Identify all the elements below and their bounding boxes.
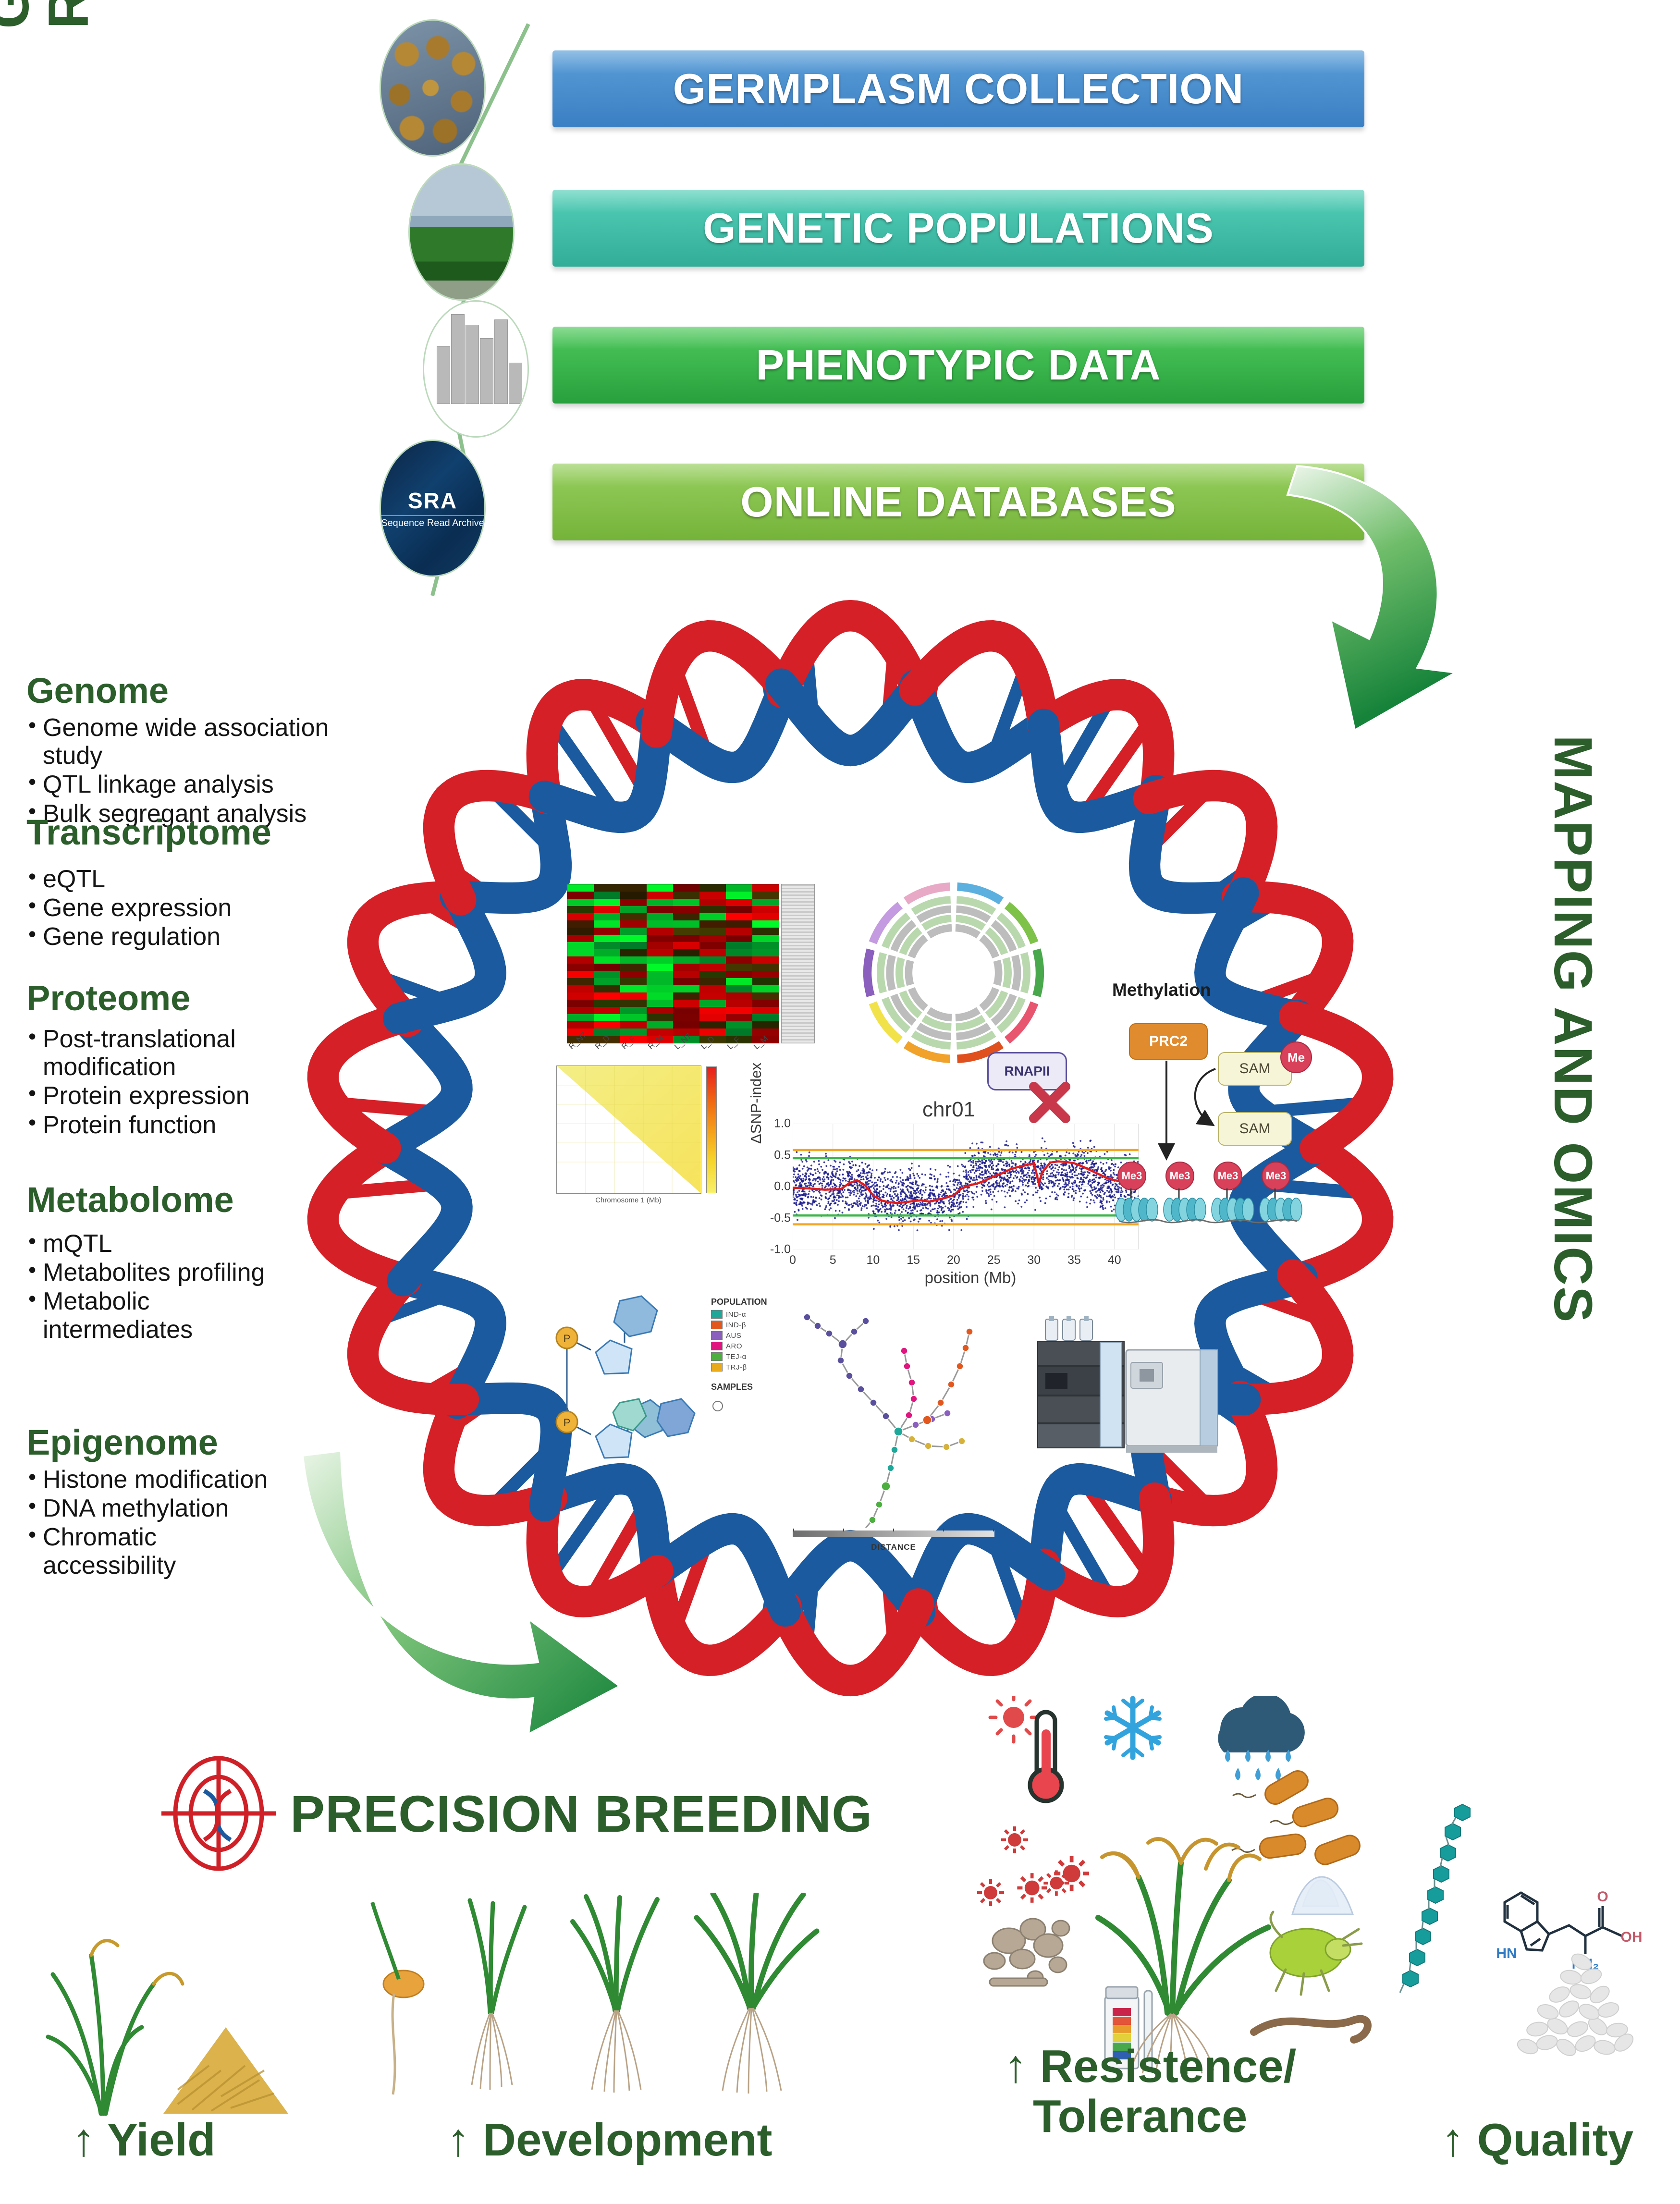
- list-item: Chromatic accessibility: [26, 1523, 225, 1579]
- outcome-label-resistance-tolerance: ↑ Resistence/ Tolerance: [1004, 2042, 1296, 2141]
- x-tick-label: 30: [1027, 1253, 1041, 1267]
- distance-scalebar: DISTANCE: [793, 1528, 994, 1552]
- network-node: [923, 1416, 932, 1424]
- label-OH: OH: [1621, 1929, 1643, 1945]
- network-node: [887, 1465, 894, 1471]
- legend-swatch: [711, 1321, 723, 1329]
- banner-phenotypic-data[interactable]: PHENOTYPIC DATA: [552, 327, 1364, 404]
- ld-triangle: [556, 1065, 701, 1194]
- expression-heatmap-panel: R_N7R_DR_FR_ML_N7L_DL_FL_M: [567, 884, 817, 1062]
- banner-label-databases: ONLINE DATABASES: [552, 464, 1364, 540]
- legend-label: TRJ-β: [726, 1363, 747, 1371]
- network-node: [944, 1410, 951, 1417]
- outcome-line-2: Tolerance: [1004, 2092, 1296, 2142]
- genetics-resources-title: GENETICS RESOURCES: [0, 0, 106, 29]
- banner-genetic-populations[interactable]: GENETIC POPULATIONS: [552, 190, 1364, 267]
- haplotype-network-graph: [783, 1287, 1018, 1528]
- legend-swatch: [711, 1310, 723, 1319]
- lc-ms-instrument-icon: [1028, 1316, 1230, 1470]
- histogram-chart-icon: [423, 300, 529, 438]
- legend-entry: IND-α: [711, 1310, 783, 1319]
- network-node: [869, 1517, 876, 1523]
- mapping-and-omics-title: MAPPING AND OMICS: [1546, 735, 1600, 1323]
- fungus-icon: [984, 1919, 1069, 1986]
- y-tick-label: -0.5: [770, 1211, 791, 1225]
- nematode-icon: [1254, 2019, 1368, 2040]
- methyl-group-icon: Me: [1280, 1041, 1312, 1073]
- methylation-diagram: Methylation PRC2 SAM SAM Me RNAPII Me3: [1100, 980, 1398, 1230]
- network-legend: POPULATION IND-αIND-βAUSAROTEJ-αTRJ-β SA…: [711, 1297, 783, 1417]
- starch-chain-icon: [1400, 1804, 1470, 1993]
- blocked-transcription-icon: [1023, 1076, 1076, 1129]
- x-tick-label: 20: [947, 1253, 960, 1267]
- network-node: [948, 1381, 955, 1388]
- seed-tray-photo-icon: [380, 19, 486, 157]
- x-tick-label: 5: [830, 1253, 836, 1267]
- network-node: [876, 1501, 883, 1508]
- sample-size-key-icon: [711, 1398, 730, 1414]
- ld-heatmap-panel: Chromosome 1 (Mb): [533, 1062, 735, 1220]
- sun-icon: [990, 1696, 1037, 1742]
- network-node: [858, 1386, 864, 1393]
- nucleosome-array: Me3 Me3 Me3 Me3: [1115, 1167, 1316, 1225]
- network-node: [906, 1412, 912, 1419]
- title-line-resources: RESOURCES: [40, 0, 97, 29]
- network-node: [838, 1340, 847, 1348]
- legend-swatch: [711, 1331, 723, 1340]
- delta-snp-index-plot: chr01 ΔSNP-index -1.0-0.50.00.51.0 05101…: [749, 1098, 1148, 1287]
- network-node: [937, 1399, 944, 1406]
- network-node: [846, 1372, 853, 1379]
- list-item: Post-translational modification: [26, 1025, 293, 1081]
- legend-label: IND-α: [726, 1310, 746, 1319]
- sra-subtitle: Sequence Read Archive: [381, 515, 484, 529]
- legend-entry: TRJ-β: [711, 1363, 783, 1371]
- list-item: Metabolic intermediates: [26, 1287, 245, 1343]
- network-node: [862, 1318, 869, 1324]
- seedling-growth-stages-icon: [346, 1893, 855, 2118]
- network-node: [908, 1436, 915, 1443]
- y-tick-label: 0.5: [774, 1148, 791, 1162]
- precision-breeding-group: PRECISION BREEDING: [159, 1753, 872, 1873]
- network-node: [804, 1314, 810, 1321]
- svg-text:P: P: [564, 1417, 571, 1429]
- legend-entry: TEJ-α: [711, 1352, 783, 1361]
- banner-germplasm-collection[interactable]: GERMPLASM COLLECTION: [552, 50, 1364, 127]
- network-node: [910, 1396, 917, 1402]
- network-node: [851, 1328, 858, 1335]
- x-tick-label: 25: [987, 1253, 1001, 1267]
- outcome-label-yield: ↑ Yield: [72, 2114, 216, 2167]
- x-axis-ticks: 0510152025303540: [793, 1251, 1139, 1268]
- outcome-line-1: ↑ Resistence/: [1004, 2042, 1296, 2092]
- legend-label: AUS: [726, 1332, 741, 1340]
- salt-mound-icon: [1292, 1877, 1353, 1914]
- thermometer-icon: [1030, 1712, 1062, 1801]
- network-node: [891, 1446, 898, 1453]
- ld-x-axis-label: Chromosome 1 (Mb): [556, 1196, 700, 1204]
- y-tick-label: 1.0: [774, 1117, 791, 1131]
- x-tick-label: 15: [907, 1253, 920, 1267]
- banner-label-populations: GENETIC POPULATIONS: [552, 190, 1364, 267]
- network-node: [894, 1427, 903, 1436]
- prc2-enzyme-node: PRC2: [1129, 1023, 1208, 1060]
- y-tick-label: -1.0: [770, 1243, 791, 1257]
- x-tick-label: 35: [1067, 1253, 1081, 1267]
- network-node: [814, 1322, 821, 1329]
- bacteria-icon: [1232, 1767, 1362, 1867]
- label-HN: HN: [1496, 1946, 1517, 1961]
- network-node: [908, 1379, 915, 1386]
- target-dna-icon: [159, 1753, 279, 1873]
- nucleotide-structure-icon: P P: [548, 1292, 706, 1499]
- legend-swatch: [711, 1363, 723, 1371]
- methylation-title: Methylation: [1112, 980, 1211, 1000]
- title-line-genetics: GENETICS: [0, 0, 37, 29]
- x-tick-label: 10: [867, 1253, 880, 1267]
- precision-breeding-label: PRECISION BREEDING: [290, 1784, 872, 1844]
- y-tick-label: 0.0: [774, 1180, 791, 1194]
- legend-swatch: [711, 1342, 723, 1350]
- label-O: O: [1597, 1889, 1608, 1905]
- network-node: [870, 1399, 877, 1406]
- circos-plot-panel: [860, 879, 1047, 1066]
- network-node: [956, 1363, 963, 1370]
- x-tick-label: 40: [1108, 1253, 1121, 1267]
- legend-entry: AUS: [711, 1331, 783, 1340]
- legend-entry: ARO: [711, 1342, 783, 1350]
- network-node: [958, 1438, 965, 1445]
- stress-factors-icon: [937, 1696, 1388, 2075]
- network-node: [901, 1347, 907, 1354]
- legend-swatch: [711, 1352, 723, 1361]
- y-axis-ticks: -1.0-0.50.00.51.0: [749, 1124, 791, 1249]
- heatmap-column-labels: R_N7R_DR_FR_ML_N7L_DL_FL_M: [567, 1044, 778, 1054]
- outcome-label-development: ↑ Development: [447, 2114, 772, 2167]
- legend-title-2: SAMPLES: [711, 1382, 783, 1392]
- aphid-icon: [1270, 1912, 1361, 1995]
- rice-field-photo-icon: [408, 163, 515, 301]
- network-node: [883, 1413, 889, 1420]
- network-node: [925, 1443, 932, 1449]
- outcome-label-quality: ↑ Quality: [1441, 2114, 1633, 2167]
- network-node: [966, 1328, 973, 1335]
- virus-icon: [977, 1826, 1089, 1906]
- network-node: [882, 1482, 890, 1491]
- svg-text:P: P: [564, 1333, 571, 1345]
- network-node: [943, 1444, 950, 1450]
- sra-database-icon: SRA Sequence Read Archive: [380, 440, 486, 577]
- legend-label: IND-β: [726, 1321, 746, 1329]
- sra-title: SRA: [408, 488, 457, 514]
- network-node: [904, 1363, 910, 1370]
- banner-label-phenotypic: PHENOTYPIC DATA: [552, 327, 1364, 404]
- legend-label: TEJ-α: [726, 1353, 747, 1361]
- network-node: [962, 1345, 969, 1351]
- rice-plant-and-grain-pile-icon: [19, 1912, 317, 2118]
- legend-title: POPULATION: [711, 1297, 783, 1307]
- network-node: [912, 1421, 919, 1428]
- figure-canvas: GENETICS RESOURCES MAPPING AND OMICS GER…: [0, 0, 1680, 2204]
- sam-spent-node: SAM: [1218, 1112, 1292, 1146]
- legend-label: ARO: [726, 1342, 742, 1350]
- chart-title: chr01: [749, 1098, 1148, 1122]
- network-node: [826, 1330, 833, 1337]
- x-tick-label: 0: [789, 1253, 796, 1267]
- legend-entry: IND-β: [711, 1321, 783, 1329]
- banner-label-germplasm: GERMPLASM COLLECTION: [552, 50, 1364, 127]
- network-node: [837, 1357, 844, 1364]
- x-axis-label: position (Mb): [749, 1269, 1148, 1287]
- ld-colorbar: [706, 1066, 717, 1193]
- snowflake-icon: [1106, 1699, 1160, 1757]
- quality-molecules-icon: HN O OH NH₂: [1384, 1777, 1680, 2075]
- banner-online-databases[interactable]: ONLINE DATABASES: [552, 464, 1364, 540]
- haplotype-network-panel: POPULATION IND-αIND-βAUSAROTEJ-αTRJ-β SA…: [711, 1287, 1018, 1556]
- scalebar-label: DISTANCE: [793, 1543, 994, 1552]
- heatmap-gene-label-strip: [781, 884, 815, 1043]
- heatmap-grid: [567, 884, 779, 1043]
- rain-cloud-icon: [1218, 1696, 1305, 1780]
